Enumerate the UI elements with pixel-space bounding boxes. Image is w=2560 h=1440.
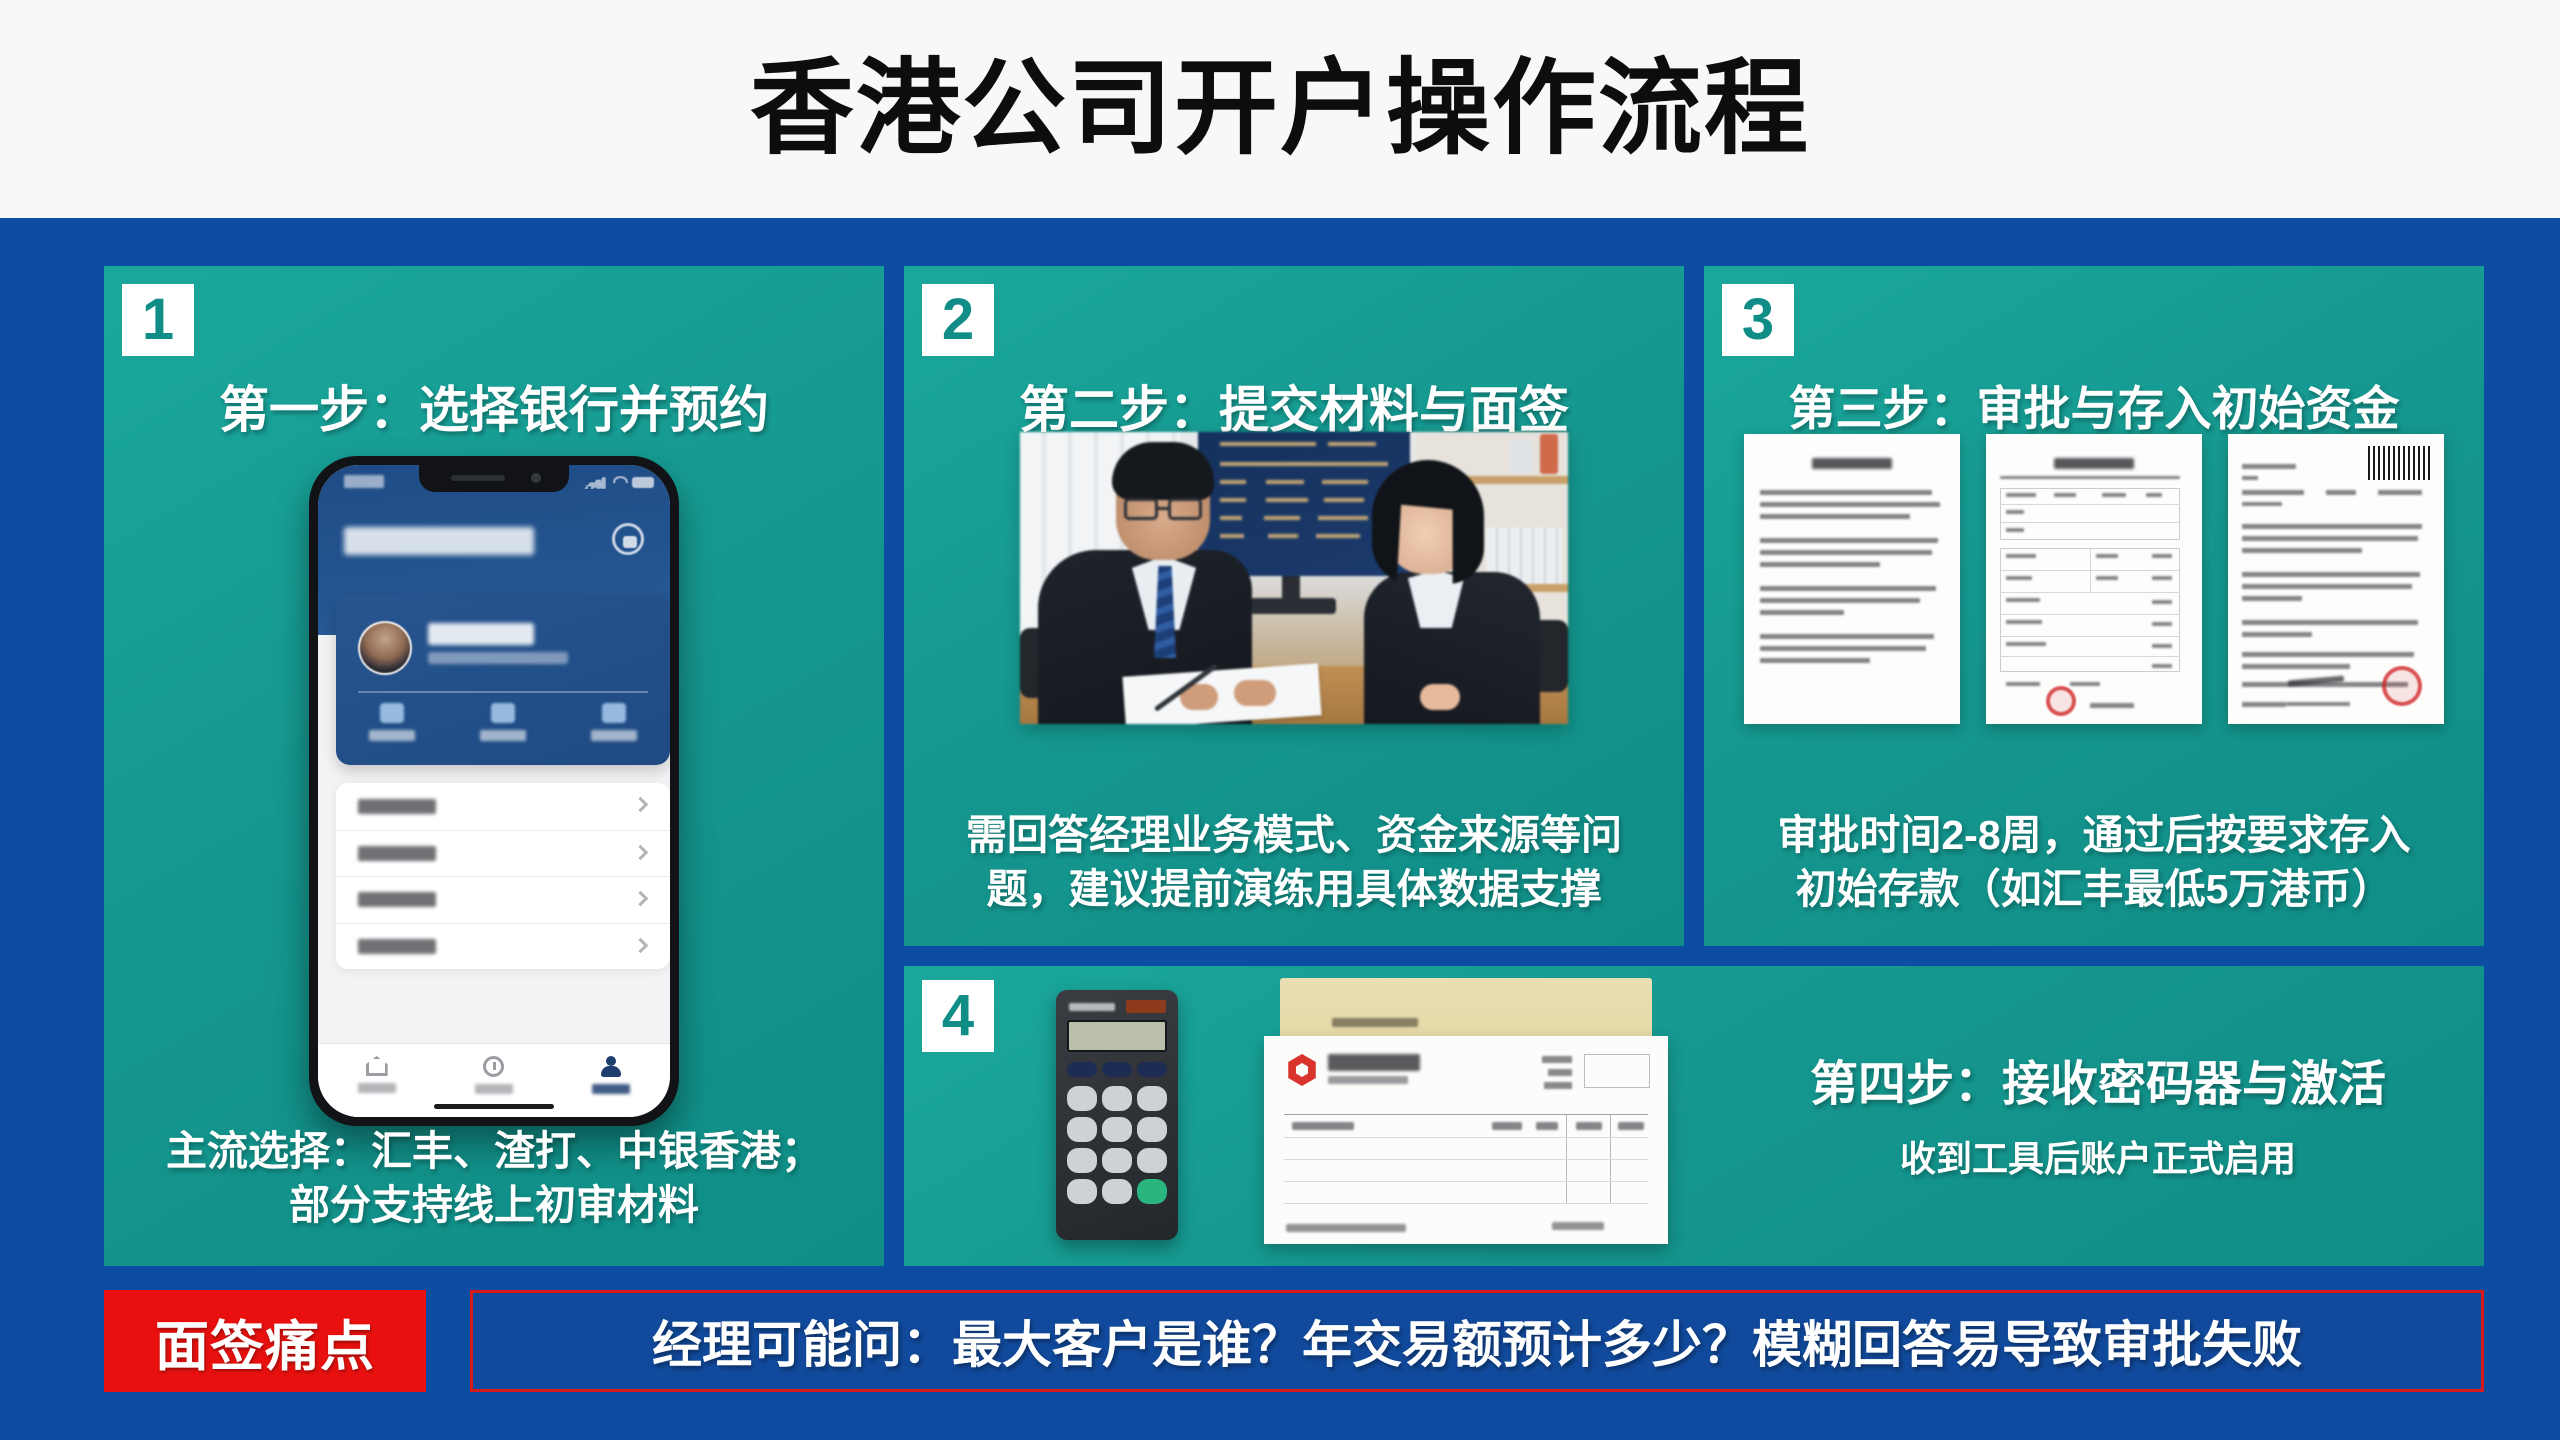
nav-label-profile <box>592 1084 630 1094</box>
list-item[interactable] <box>336 830 670 877</box>
quick-action-label-3 <box>591 730 637 741</box>
bell-icon[interactable] <box>612 523 644 555</box>
home-icon <box>366 1056 388 1076</box>
document-page-3 <box>2228 434 2444 724</box>
token-function-key[interactable] <box>1137 1062 1167 1077</box>
shelf-jar <box>1510 440 1532 474</box>
step-caption-line: 题，建议提前演练用具体数据支撑 <box>930 863 1658 916</box>
step-title-4: 第四步：接收密码器与激活 <box>1748 1044 2448 1114</box>
form-field-label <box>1544 1082 1572 1089</box>
form-table <box>1284 1114 1648 1204</box>
pain-point-text: 经理可能问：最大客户是谁？年交易额预计多少？模糊回答易导致审批失败 <box>652 1305 2302 1377</box>
form-field-label <box>1542 1056 1572 1063</box>
form-footer-amount <box>1552 1222 1604 1230</box>
content-canvas: 1 第一步：选择银行并预约 <box>0 218 2560 1440</box>
chevron-right-icon <box>633 937 649 953</box>
step-caption-line: 需回答经理业务模式、资金来源等问 <box>930 809 1658 862</box>
mobile-banking-app-mockup <box>309 456 679 1126</box>
nav-label-history <box>475 1084 513 1094</box>
list-item-label <box>358 799 436 814</box>
bottom-banner: 面签痛点 经理可能问：最大客户是谁？年交易额预计多少？模糊回答易导致审批失败 <box>104 1290 2484 1392</box>
official-red-seal <box>2382 666 2422 706</box>
token-key[interactable] <box>1067 1148 1097 1173</box>
clock-icon <box>483 1056 504 1077</box>
nav-item-history[interactable] <box>435 1056 552 1094</box>
token-lcd-screen <box>1067 1020 1167 1052</box>
eyeglasses-icon <box>1124 498 1206 520</box>
chevron-right-icon <box>633 797 649 813</box>
quick-action-1[interactable] <box>336 703 447 741</box>
token-key[interactable] <box>1102 1086 1132 1111</box>
token-keypad <box>1067 1086 1167 1204</box>
list-item[interactable] <box>336 876 670 923</box>
step-caption-1: 主流选择：汇丰、渣打、中银香港； 部分支持线上初审材料 <box>104 1125 884 1232</box>
official-red-seal <box>2046 686 2076 716</box>
pain-point-badge-label: 面签痛点 <box>155 1302 375 1381</box>
pain-point-badge: 面签痛点 <box>104 1290 426 1392</box>
step-caption-line: 主流选择：汇丰、渣打、中银香港； <box>130 1125 858 1178</box>
list-item[interactable] <box>336 923 670 970</box>
step-caption-line: 初始存款（如汇丰最低5万港币） <box>1730 863 2458 916</box>
token-enter-key[interactable] <box>1137 1179 1167 1204</box>
quick-action-label-1 <box>369 730 415 741</box>
step-title-1: 第一步：选择银行并预约 <box>104 370 884 442</box>
bank-name-en-label <box>1328 1076 1408 1084</box>
form-field-label <box>1548 1069 1572 1076</box>
step-number-badge-1: 1 <box>122 284 194 356</box>
businessman-hair <box>1112 442 1214 500</box>
menu-list <box>336 783 670 969</box>
step-subtitle-4: 收到工具后账户正式启用 <box>1748 1130 2448 1182</box>
quick-action-3[interactable] <box>559 703 670 741</box>
bank-logo-icon <box>1286 1054 1318 1086</box>
bank-interview-photo <box>1020 432 1568 724</box>
step-caption-line: 部分支持线上初审材料 <box>130 1179 858 1232</box>
step-caption-line: 审批时间2-8周，通过后按要求存入 <box>1730 809 2458 862</box>
document-page-2 <box>1986 434 2202 724</box>
token-key[interactable] <box>1067 1179 1097 1204</box>
envelope-sleeve-text <box>1332 1018 1418 1027</box>
token-indicator-light <box>1126 1000 1166 1013</box>
chevron-right-icon <box>633 844 649 860</box>
pain-point-panel: 经理可能问：最大客户是谁？年交易额预计多少？模糊回答易导致审批失败 <box>470 1290 2484 1392</box>
approval-documents-photo <box>1744 434 2444 724</box>
token-key[interactable] <box>1102 1179 1132 1204</box>
step-4-text-block: 第四步：接收密码器与激活 收到工具后账户正式启用 <box>1748 1044 2448 1182</box>
step-title-3: 第三步：审批与存入初始资金 <box>1704 370 2484 439</box>
nav-item-profile[interactable] <box>553 1056 670 1094</box>
step-card-2: 2 第二步：提交材料与面签 <box>904 266 1684 946</box>
battery-icon <box>632 477 654 488</box>
account-subtitle-label <box>428 652 568 664</box>
security-token-device <box>1056 990 1178 1240</box>
token-key[interactable] <box>1102 1117 1132 1142</box>
app-name-label <box>344 527 534 555</box>
document-title-text <box>2054 458 2134 469</box>
nav-item-home[interactable] <box>318 1056 435 1093</box>
person-icon <box>601 1056 621 1077</box>
list-item-label <box>358 846 436 861</box>
card-icon <box>602 703 626 723</box>
quick-action-2[interactable] <box>447 703 558 741</box>
step-card-1: 1 第一步：选择银行并预约 <box>104 266 884 1266</box>
shelf-bottle <box>1540 434 1558 474</box>
transfer-icon <box>380 703 404 723</box>
token-key[interactable] <box>1137 1148 1167 1173</box>
form-stamp-box <box>1584 1054 1650 1088</box>
form-footer-text <box>1286 1224 1406 1232</box>
signal-bars-icon <box>584 477 606 489</box>
token-key[interactable] <box>1067 1086 1097 1111</box>
phone-screen <box>318 465 670 1117</box>
step-number-badge-4: 4 <box>922 980 994 1052</box>
status-bar <box>318 473 670 495</box>
token-brand-label <box>1069 1003 1115 1011</box>
token-key[interactable] <box>1137 1117 1167 1142</box>
list-item[interactable] <box>336 783 670 830</box>
step-number-badge-3: 3 <box>1722 284 1794 356</box>
quick-action-label-2 <box>480 730 526 741</box>
token-function-key[interactable] <box>1102 1062 1132 1077</box>
document-title-text <box>1812 458 1892 469</box>
quick-actions-row <box>336 703 670 741</box>
wifi-icon <box>613 476 628 489</box>
payment-icon <box>491 703 515 723</box>
step-card-3: 3 第三步：审批与存入初始资金 <box>1704 266 2484 946</box>
step-caption-2: 需回答经理业务模式、资金来源等问 题，建议提前演练用具体数据支撑 <box>904 809 1684 916</box>
token-key[interactable] <box>1137 1086 1167 1111</box>
chevron-right-icon <box>633 891 649 907</box>
divider <box>358 691 648 693</box>
account-summary-card[interactable] <box>336 595 670 765</box>
status-time <box>344 475 384 488</box>
page-title: 香港公司开户操作流程 <box>750 57 1810 161</box>
token-key[interactable] <box>1067 1117 1097 1142</box>
bank-manager-hand <box>1420 684 1460 710</box>
step-caption-3: 审批时间2-8周，通过后按要求存入 初始存款（如汇丰最低5万港币） <box>1704 809 2484 916</box>
list-item-label <box>358 892 436 907</box>
token-key[interactable] <box>1102 1148 1132 1173</box>
header-bar: 香港公司开户操作流程 <box>0 0 2560 218</box>
nav-label-home <box>358 1083 396 1093</box>
barcode <box>2368 446 2432 480</box>
infographic-page: 香港公司开户操作流程 1 第一步：选择银行并预约 <box>0 0 2560 1440</box>
step-card-4: 4 <box>904 966 2484 1266</box>
token-function-key[interactable] <box>1067 1062 1097 1077</box>
document-page-1 <box>1744 434 1960 724</box>
home-indicator-bar <box>434 1104 554 1109</box>
monitor-base <box>1250 598 1336 614</box>
account-name-label <box>428 623 534 645</box>
step-number-badge-2: 2 <box>922 284 994 356</box>
bank-form <box>1264 1036 1668 1244</box>
avatar <box>358 621 412 675</box>
bank-name-label <box>1328 1054 1420 1071</box>
bank-envelope-and-form <box>1264 978 1668 1248</box>
token-function-keys <box>1067 1062 1167 1077</box>
businessman-hand-2 <box>1234 680 1276 706</box>
list-item-label <box>358 939 436 954</box>
